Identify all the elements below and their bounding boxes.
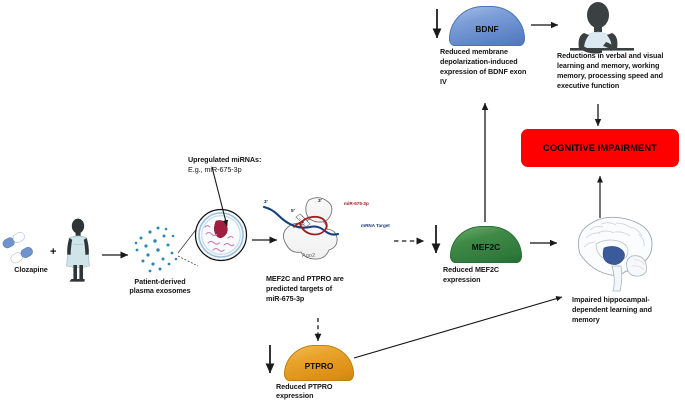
mir-675-3p-label: miR-675-3p: [344, 201, 369, 206]
mrna-target-label: mRNA Target: [361, 223, 390, 228]
ago2-caption-line2: predicted targets of: [266, 285, 396, 294]
zoom-leader-upper: [178, 227, 198, 253]
exosomes-label-line2: plasma exosomes: [110, 287, 210, 296]
cognitive-impairment-label: COGNITIVE IMPAIRMENT: [543, 143, 657, 153]
exosome-vesicle-icon: [196, 210, 247, 261]
patient-in-gown-icon: [67, 219, 90, 282]
brain-caption-line2: dependent learning and: [572, 306, 684, 315]
cognitive-impairment-box[interactable]: COGNITIVE IMPAIRMENT: [521, 129, 679, 167]
capsule-pills-icon: [1, 231, 34, 265]
ago2-caption-line3: miR-675-3p: [266, 295, 396, 304]
bdnf-caption-line3: expression of BDNF exon: [440, 68, 558, 77]
mef2c-caption-line1: Reduced MEF2C: [443, 266, 547, 275]
bdnf-caption-line1: Reduced membrane: [440, 48, 552, 57]
five-prime-label: 5': [291, 209, 295, 214]
bdnf-caption-line4: IV: [440, 78, 558, 87]
three-prime-left-label: 3': [264, 200, 268, 205]
cognition-caption-line4: executive function: [557, 82, 683, 91]
cognition-caption-line1: Reductions in verbal and visual: [557, 52, 683, 61]
ptpro-caption-line2: expression: [276, 392, 380, 401]
brain-caption-line3: memory: [572, 316, 684, 325]
plus-sign: +: [50, 246, 56, 258]
ptpro-label: PTPRO: [285, 346, 353, 380]
hippocampus-highlight: [603, 246, 624, 264]
cognition-caption-line2: learning and memory, working: [557, 62, 683, 71]
exosome-particles-icon: [135, 227, 178, 273]
person-writing-icon: [570, 2, 634, 54]
ago2-caption-line1: MEF2C and PTPRO are: [266, 275, 396, 284]
ago2-risc-complex-icon: [264, 198, 338, 259]
brain-hippocampus-icon: [578, 217, 652, 291]
clozapine-label: Clozapine: [2, 266, 60, 275]
bdnf-caption-line2: depolarization-induced: [440, 58, 558, 67]
cognition-caption-line3: memory, processing speed and: [557, 72, 683, 81]
ago2-protein-label: Ago2: [302, 253, 315, 259]
mirna-callout-line2: E.g., miR-675-3p: [188, 166, 318, 175]
arrow-ptpro-to-brain: [354, 297, 562, 358]
zoom-leader-lower: [178, 256, 198, 266]
mef2c-caption-line2: expression: [443, 276, 547, 285]
mirna-callout-line1: Upregulated miRNAs:: [188, 156, 318, 165]
three-prime-right-label: 3': [318, 199, 322, 204]
brain-caption-line1: Impaired hippocampal-: [572, 296, 684, 305]
mef2c-label: MEF2C: [451, 227, 521, 262]
